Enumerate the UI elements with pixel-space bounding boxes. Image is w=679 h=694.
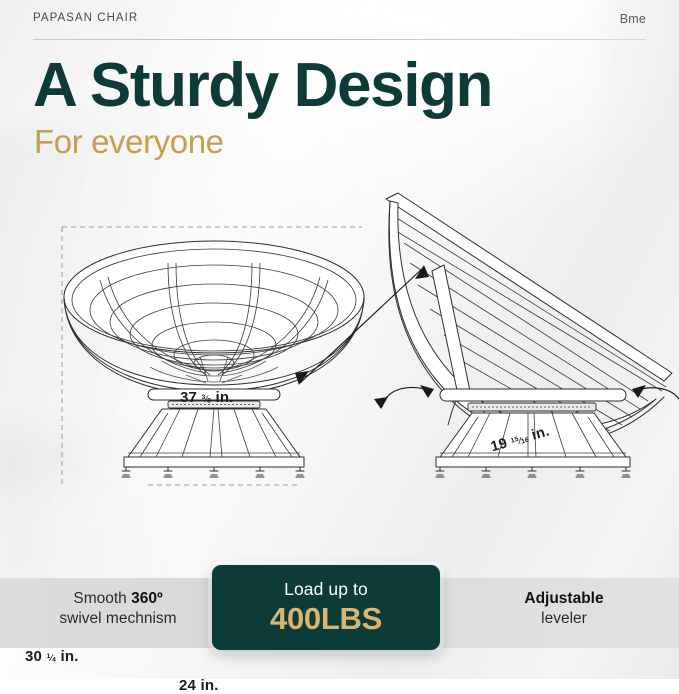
leveler-feet-side <box>436 467 630 477</box>
badge-value: 400LBS <box>270 601 382 637</box>
feature-swivel-line2: swivel mechnism <box>20 609 216 629</box>
header: PAPASAN CHAIR Bme <box>33 12 646 40</box>
header-divider <box>33 39 646 40</box>
page-subtitle: For everyone <box>34 125 224 158</box>
load-capacity-badge: Load up to 400LBS <box>212 565 440 650</box>
chair-front-view <box>64 241 364 477</box>
feature-swivel: Smooth 360º swivel mechnism <box>20 589 216 630</box>
infographic-page: PAPASAN CHAIR Bme A Sturdy Design For ev… <box>0 0 679 679</box>
feature-swivel-line1: Smooth 360º <box>73 590 162 607</box>
product-category-label: PAPASAN CHAIR <box>33 12 138 24</box>
leveler-feet-front <box>122 467 304 477</box>
dimension-label-width: 37 3⁄8 in. <box>180 389 234 406</box>
feature-leveler: Adjustable leveler <box>466 589 662 630</box>
badge-caption: Load up to <box>284 579 368 600</box>
brand-logo-text: Bme <box>620 12 646 26</box>
dimension-label-height: 30 1⁄4 in. <box>25 648 79 665</box>
dimension-label-base-depth: 24 in. <box>24 677 219 694</box>
feature-leveler-line2: leveler <box>466 609 662 629</box>
page-title: A Sturdy Design <box>33 55 492 117</box>
diagram-svg <box>0 185 679 530</box>
product-dimension-diagram: 37 3⁄8 in. 30 1⁄4 in. 24 in. 19 15⁄16 in… <box>0 185 679 530</box>
feature-leveler-line1: Adjustable <box>524 590 603 607</box>
